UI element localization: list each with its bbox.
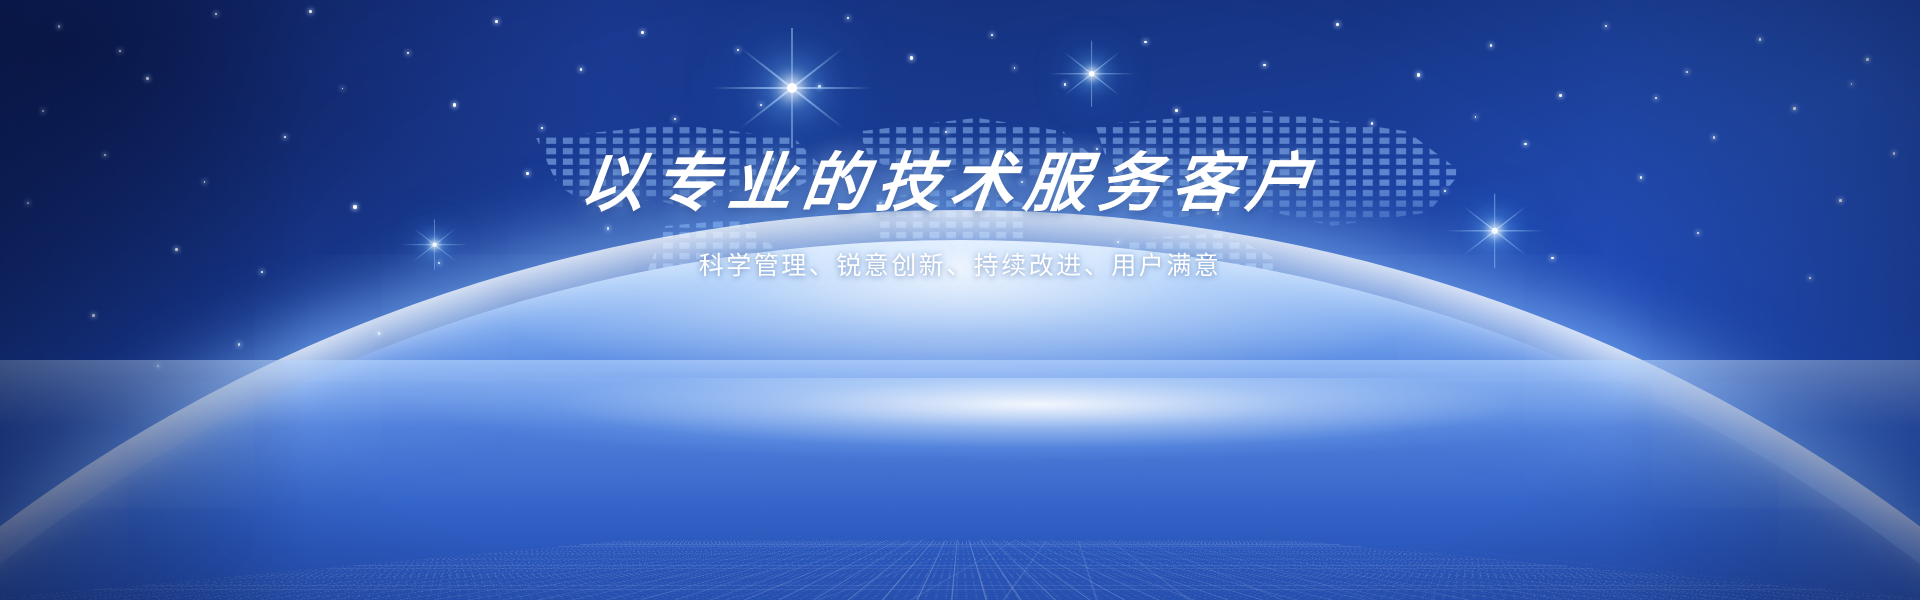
- city-scene: [0, 360, 1920, 600]
- star-icon: [238, 343, 240, 346]
- star-icon: [92, 314, 95, 317]
- banner-subtitle: 科学管理、锐意创新、持续改进、用户满意: [0, 216, 1920, 282]
- banner-content: 以专业的技术服务客户 科学管理、锐意创新、持续改进、用户满意: [0, 0, 1920, 282]
- city-haze: [0, 360, 1920, 600]
- banner-headline: 以专业的技术服务客户: [0, 0, 1920, 216]
- hero-banner: 以专业的技术服务客户 科学管理、锐意创新、持续改进、用户满意: [0, 0, 1920, 600]
